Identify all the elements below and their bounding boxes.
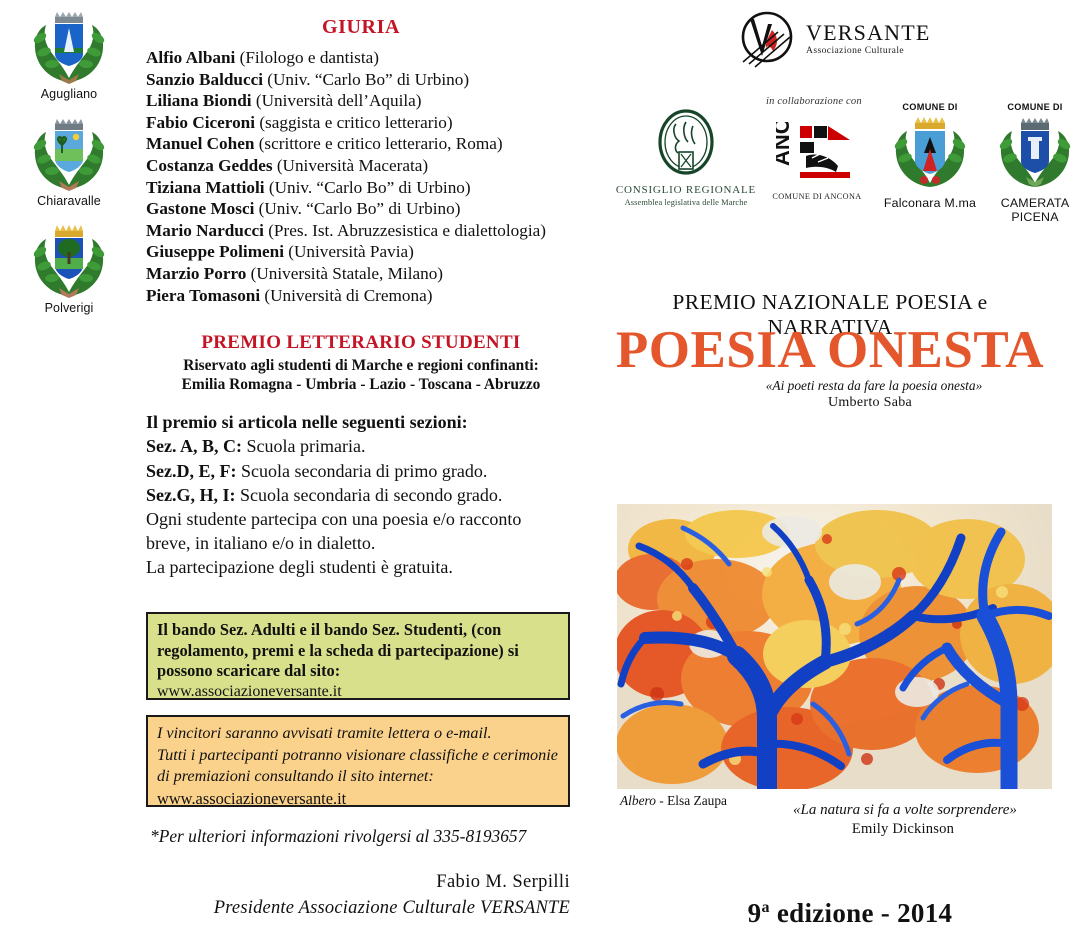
partner-logo-consiglio-regionale: CONSIGLIO REGIONALE Assemblea legislativ… bbox=[612, 108, 760, 208]
partner-caption-top: COMUNE DI bbox=[986, 102, 1082, 114]
dickinson-quote: «La natura si fa a volte sorprendere» bbox=[760, 802, 1050, 819]
section-row: Sez. A, B, C: Scuola primaria. bbox=[146, 434, 576, 458]
section-text: Scuola secondaria di secondo grado. bbox=[236, 485, 503, 505]
section-label: Sez. A, B, C: bbox=[146, 436, 242, 456]
versante-logo: VERSANTE Associazione Culturale bbox=[738, 10, 938, 70]
download-bando-callout: Il bando Sez. Adulti e il bando Sez. Stu… bbox=[146, 612, 570, 700]
students-note-line-2: breve, in italiano e/o in dialetto. bbox=[146, 531, 576, 555]
crest-label: Chiaravalle bbox=[10, 194, 128, 208]
jury-member-affiliation: (Università Macerata) bbox=[277, 156, 428, 175]
students-sections-block: Il premio si articola nelle seguenti sez… bbox=[146, 410, 576, 579]
crest-item: Chiaravalle bbox=[10, 115, 128, 208]
jury-member: Manuel Cohen (scrittore e critico letter… bbox=[146, 133, 576, 155]
students-note-line-1: Ogni studente partecipa con una poesia e… bbox=[146, 507, 576, 531]
winners-notification-callout: I vincitori saranno avvisati tramite let… bbox=[146, 715, 570, 807]
partner-logo-falconara: COMUNE DI Falconara M.ma bbox=[880, 102, 980, 210]
section-row: Sez.G, H, I: Scuola secondaria di second… bbox=[146, 483, 576, 507]
jury-member: Liliana Biondi (Università dell’Aquila) bbox=[146, 90, 576, 112]
jury-member-affiliation: (Università dell’Aquila) bbox=[256, 91, 422, 110]
students-note-line-3: La partecipazione degli studenti è gratu… bbox=[146, 555, 576, 579]
crest-label: Agugliano bbox=[10, 87, 128, 101]
edition-line: 9a edizione - 2014 bbox=[650, 898, 1050, 929]
green-box-website-link[interactable]: www.associazioneversante.it bbox=[157, 682, 560, 702]
crest-item: Polverigi bbox=[10, 222, 128, 315]
jury-member-name: Alfio Albani bbox=[146, 48, 235, 67]
jury-member-name: Tiziana Mattioli bbox=[146, 178, 265, 197]
sections-intro: Il premio si articola nelle seguenti sez… bbox=[146, 410, 576, 434]
jury-heading: GIURIA bbox=[146, 16, 576, 39]
page-title: POESIA ONESTA bbox=[604, 322, 1056, 378]
orange-box-line-3: di premiazioni consultando il sito inter… bbox=[157, 766, 560, 788]
artwork-author: - Elsa Zaupa bbox=[656, 793, 727, 808]
jury-member: Piera Tomasoni (Università di Cremona) bbox=[146, 285, 576, 307]
left-content-column: GIURIA Alfio Albani (Filologo e dantista… bbox=[146, 16, 576, 580]
jury-list: Alfio Albani (Filologo e dantista) Sanzi… bbox=[146, 47, 576, 306]
artwork-caption: Albero - Elsa Zaupa bbox=[620, 793, 727, 809]
coat-of-arms-polverigi-icon bbox=[26, 222, 112, 300]
jury-member-name: Marzio Porro bbox=[146, 264, 246, 283]
comune-di-ancona-logo-icon: ANCO bbox=[776, 122, 858, 186]
jury-member: Mario Narducci (Pres. Ist. Abruzzesistic… bbox=[146, 220, 576, 242]
partner-logo-comune-ancona: ANCO COMUNE DI ANCONA bbox=[762, 122, 872, 203]
jury-member: Giuseppe Polimeni (Università Pavia) bbox=[146, 241, 576, 263]
jury-member-name: Giuseppe Polimeni bbox=[146, 242, 284, 261]
crest-item: Agugliano bbox=[10, 8, 128, 101]
artwork-title: Albero bbox=[620, 793, 656, 808]
section-label: Sez.D, E, F: bbox=[146, 461, 236, 481]
partner-caption-main: Falconara M.ma bbox=[880, 196, 980, 210]
jury-member-name: Liliana Biondi bbox=[146, 91, 252, 110]
partner-caption-sub: Assemblea legislativa delle Marche bbox=[612, 197, 760, 209]
section-text: Scuola secondaria di primo grado. bbox=[236, 461, 487, 481]
jury-member-name: Costanza Geddes bbox=[146, 156, 273, 175]
consiglio-regionale-marche-logo-icon bbox=[649, 108, 723, 180]
green-box-line-2: regolamento, premi e la scheda di partec… bbox=[157, 641, 560, 662]
students-subtitle-line-2: Emilia Romagna - Umbria - Lazio - Toscan… bbox=[146, 375, 576, 394]
orange-box-line-1: I vincitori saranno avvisati tramite let… bbox=[157, 723, 560, 745]
comune-falconara-crest-icon bbox=[887, 115, 973, 191]
svg-text:ANCO: ANCO bbox=[776, 122, 794, 166]
partner-caption-main: CAMERATA bbox=[986, 196, 1082, 210]
jury-member-name: Gastone Mosci bbox=[146, 199, 254, 218]
jury-member-name: Sanzio Balducci bbox=[146, 70, 263, 89]
partner-caption-main: COMUNE DI ANCONA bbox=[762, 191, 872, 203]
orange-box-website-link[interactable]: www.associazioneversante.it bbox=[157, 788, 560, 809]
versante-wordmark: VERSANTE Associazione Culturale bbox=[806, 20, 931, 56]
jury-member: Fabio Ciceroni (saggista e critico lette… bbox=[146, 112, 576, 134]
sections-intro-text: Il premio si articola nelle seguenti sez… bbox=[146, 412, 468, 432]
students-prize-heading: PREMIO LETTERARIO STUDENTI bbox=[146, 332, 576, 354]
jury-member-name: Fabio Ciceroni bbox=[146, 113, 255, 132]
contact-info-line: *Per ulteriori informazioni rivolgersi a… bbox=[150, 826, 580, 847]
crest-label: Polverigi bbox=[10, 301, 128, 315]
collaboration-label: in collaborazione con bbox=[766, 96, 862, 107]
jury-member-affiliation: (Univ. “Carlo Bo” di Urbino) bbox=[267, 70, 469, 89]
edition-superscript: a bbox=[761, 899, 769, 916]
jury-member-affiliation: (Università Pavia) bbox=[288, 242, 414, 261]
comune-camerata-picena-crest-icon bbox=[992, 115, 1078, 191]
jury-member-affiliation: (Pres. Ist. Abruzzesistica e dialettolog… bbox=[268, 221, 546, 240]
municipal-crests-column: Agugliano bbox=[10, 8, 128, 329]
orange-box-line-2: Tutti i partecipanti potranno visionare … bbox=[157, 745, 560, 767]
green-box-line-1: Il bando Sez. Adulti e il bando Sez. Stu… bbox=[157, 620, 560, 641]
poster-page: Agugliano bbox=[0, 0, 1082, 940]
green-box-line-3: possono scaricare dal sito: bbox=[157, 661, 560, 682]
edition-rest: edizione - 2014 bbox=[770, 898, 953, 928]
jury-member: Tiziana Mattioli (Univ. “Carlo Bo” di Ur… bbox=[146, 177, 576, 199]
jury-member-affiliation: (Filologo e dantista) bbox=[240, 48, 379, 67]
jury-member-affiliation: (scrittore e critico letterario, Roma) bbox=[259, 134, 503, 153]
jury-member: Marzio Porro (Università Statale, Milano… bbox=[146, 263, 576, 285]
jury-member: Alfio Albani (Filologo e dantista) bbox=[146, 47, 576, 69]
versante-name: VERSANTE bbox=[806, 20, 931, 46]
students-subtitle-line-1: Riservato agli studenti di Marche e regi… bbox=[146, 356, 576, 375]
jury-member-affiliation: (Univ. “Carlo Bo” di Urbino) bbox=[269, 178, 471, 197]
jury-member-name: Mario Narducci bbox=[146, 221, 264, 240]
versante-subtitle: Associazione Culturale bbox=[806, 45, 931, 56]
jury-member-name: Manuel Cohen bbox=[146, 134, 254, 153]
partner-logos-row: CONSIGLIO REGIONALE Assemblea legislativ… bbox=[612, 108, 1074, 212]
jury-member-name: Piera Tomasoni bbox=[146, 286, 260, 305]
coat-of-arms-chiaravalle-icon bbox=[26, 115, 112, 193]
saba-quote-author: Umberto Saba bbox=[700, 395, 1040, 411]
partner-logo-camerata-picena: COMUNE DI CAMERATA PICENA bbox=[986, 102, 1082, 224]
painting-blue-tree-autumn-foliage-icon bbox=[617, 504, 1052, 789]
section-label: Sez.G, H, I: bbox=[146, 485, 236, 505]
jury-member-affiliation: (saggista e critico letterario) bbox=[259, 113, 452, 132]
section-row: Sez.D, E, F: Scuola secondaria di primo … bbox=[146, 459, 576, 483]
jury-member: Gastone Mosci (Univ. “Carlo Bo” di Urbin… bbox=[146, 198, 576, 220]
jury-member-affiliation: (Univ. “Carlo Bo” di Urbino) bbox=[259, 199, 461, 218]
dickinson-quote-author: Emily Dickinson bbox=[760, 821, 1046, 838]
partner-caption-sub: PICENA bbox=[986, 210, 1082, 224]
edition-ordinal: 9 bbox=[748, 898, 762, 928]
jury-member: Sanzio Balducci (Univ. “Carlo Bo” di Urb… bbox=[146, 69, 576, 91]
section-text: Scuola primaria. bbox=[242, 436, 365, 456]
jury-member-affiliation: (Università di Cremona) bbox=[264, 286, 432, 305]
coat-of-arms-agugliano-icon bbox=[26, 8, 112, 86]
signature-role: Presidente Associazione Culturale VERSAN… bbox=[146, 898, 570, 919]
versante-v-flame-logo-icon bbox=[738, 10, 798, 68]
partner-caption-top: COMUNE DI bbox=[880, 102, 980, 114]
jury-member-affiliation: (Università Statale, Milano) bbox=[251, 264, 443, 283]
jury-member: Costanza Geddes (Università Macerata) bbox=[146, 155, 576, 177]
artwork-image bbox=[617, 504, 1052, 789]
signature-name: Fabio M. Serpilli bbox=[146, 872, 570, 893]
partner-caption-main: CONSIGLIO REGIONALE bbox=[612, 185, 760, 197]
saba-quote: «Ai poeti resta da fare la poesia onesta… bbox=[700, 378, 1048, 394]
